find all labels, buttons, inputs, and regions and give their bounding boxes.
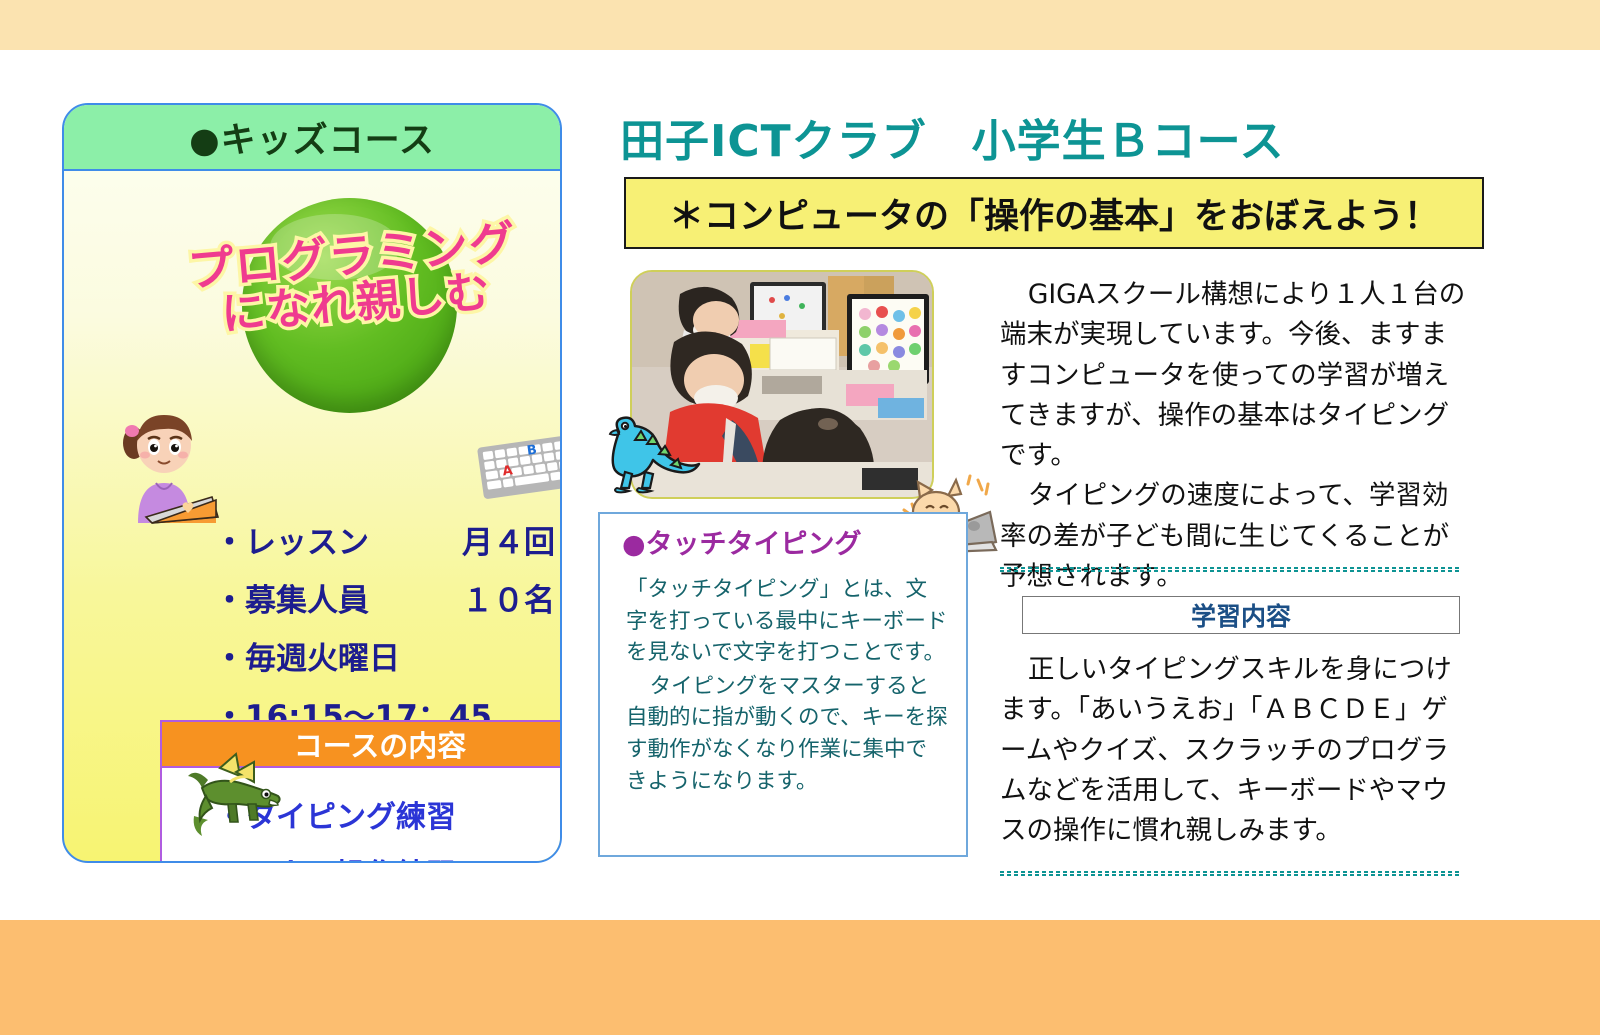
girl-with-laptop-icon <box>112 405 222 525</box>
study-content-label: 学習内容 <box>1191 597 1291 633</box>
course-content-item: ・マウス操作練習 <box>216 850 562 863</box>
dragon-icon <box>178 750 288 850</box>
study-paragraph: 正しいタイピングスキルを身につけます。「あいうえお」「ＡＢＣＤＥ」ゲームやクイズ… <box>1000 650 1470 851</box>
top-decorative-band <box>0 0 1600 50</box>
divider-bottom <box>1000 871 1462 875</box>
programming-badge-text: プログラミング になれ親しむ <box>171 217 538 342</box>
touch-typing-title: ●タッチタイピング <box>622 522 862 561</box>
kids-course-card: ●キッズコース プログラミング になれ親しむ <box>62 103 562 863</box>
lesson-item: ・募集人員 １０名 <box>214 575 554 620</box>
keyboard-icon: A B C <box>472 425 562 505</box>
lesson-details-list: ・レッスン 月４回 ・募集人員 １０名 ・毎週火曜日 ・16:15〜17：45 <box>214 517 554 749</box>
kids-course-header-label: ●キッズコース <box>189 112 435 163</box>
giga-paragraph-2: タイピングの速度によって、学習効率の差が子ども間に生じてくることが予想されます。 <box>1000 476 1470 597</box>
touch-typing-paragraph-1: 「タッチタイピング」とは、文字を打っている最中にキーボードを見ないで文字を打つこ… <box>626 574 948 669</box>
bottom-decorative-band <box>0 920 1600 1035</box>
subtitle-label: ＊コンピュータの「操作の基本」をおぼえよう！ <box>669 188 1439 239</box>
divider-top <box>1000 567 1462 571</box>
page-title: 田子ICTクラブ 小学生Ｂコース <box>620 105 1284 169</box>
course-content-header-label: コースの内容 <box>294 723 467 765</box>
svg-text:A: A <box>502 463 514 479</box>
touch-typing-paragraph-2: タイピングをマスターすると自動的に指が動くので、キーを探す動作がなくなり作業に集… <box>626 671 948 797</box>
dinosaur-icon <box>597 410 702 495</box>
giga-paragraph-1: GIGAスクール構想により１人１台の端末が実現しています。今後、ますますコンピュ… <box>1000 275 1470 476</box>
study-description: 正しいタイピングスキルを身につけます。「あいうえお」「ＡＢＣＤＥ」ゲームやクイズ… <box>1000 650 1470 851</box>
study-content-box: 学習内容 <box>1022 596 1460 634</box>
svg-text:C: C <box>560 437 562 453</box>
subtitle-banner: ＊コンピュータの「操作の基本」をおぼえよう！ <box>624 177 1484 249</box>
lesson-item: ・毎週火曜日 <box>214 633 554 678</box>
touch-typing-body: 「タッチタイピング」とは、文字を打っている最中にキーボードを見ないで文字を打つこ… <box>626 574 948 797</box>
giga-description: GIGAスクール構想により１人１台の端末が実現しています。今後、ますますコンピュ… <box>1000 275 1470 597</box>
svg-text:B: B <box>526 443 538 459</box>
lesson-item: ・レッスン 月４回 <box>214 517 554 562</box>
course-content-box: コースの内容 ・タイピング練習 ・マウス操作練習 <box>160 720 562 863</box>
touch-typing-box: ●タッチタイピング 「タッチタイピング」とは、文字を打っている最中にキーボードを… <box>598 512 968 857</box>
kids-course-header: ●キッズコース <box>64 105 560 171</box>
